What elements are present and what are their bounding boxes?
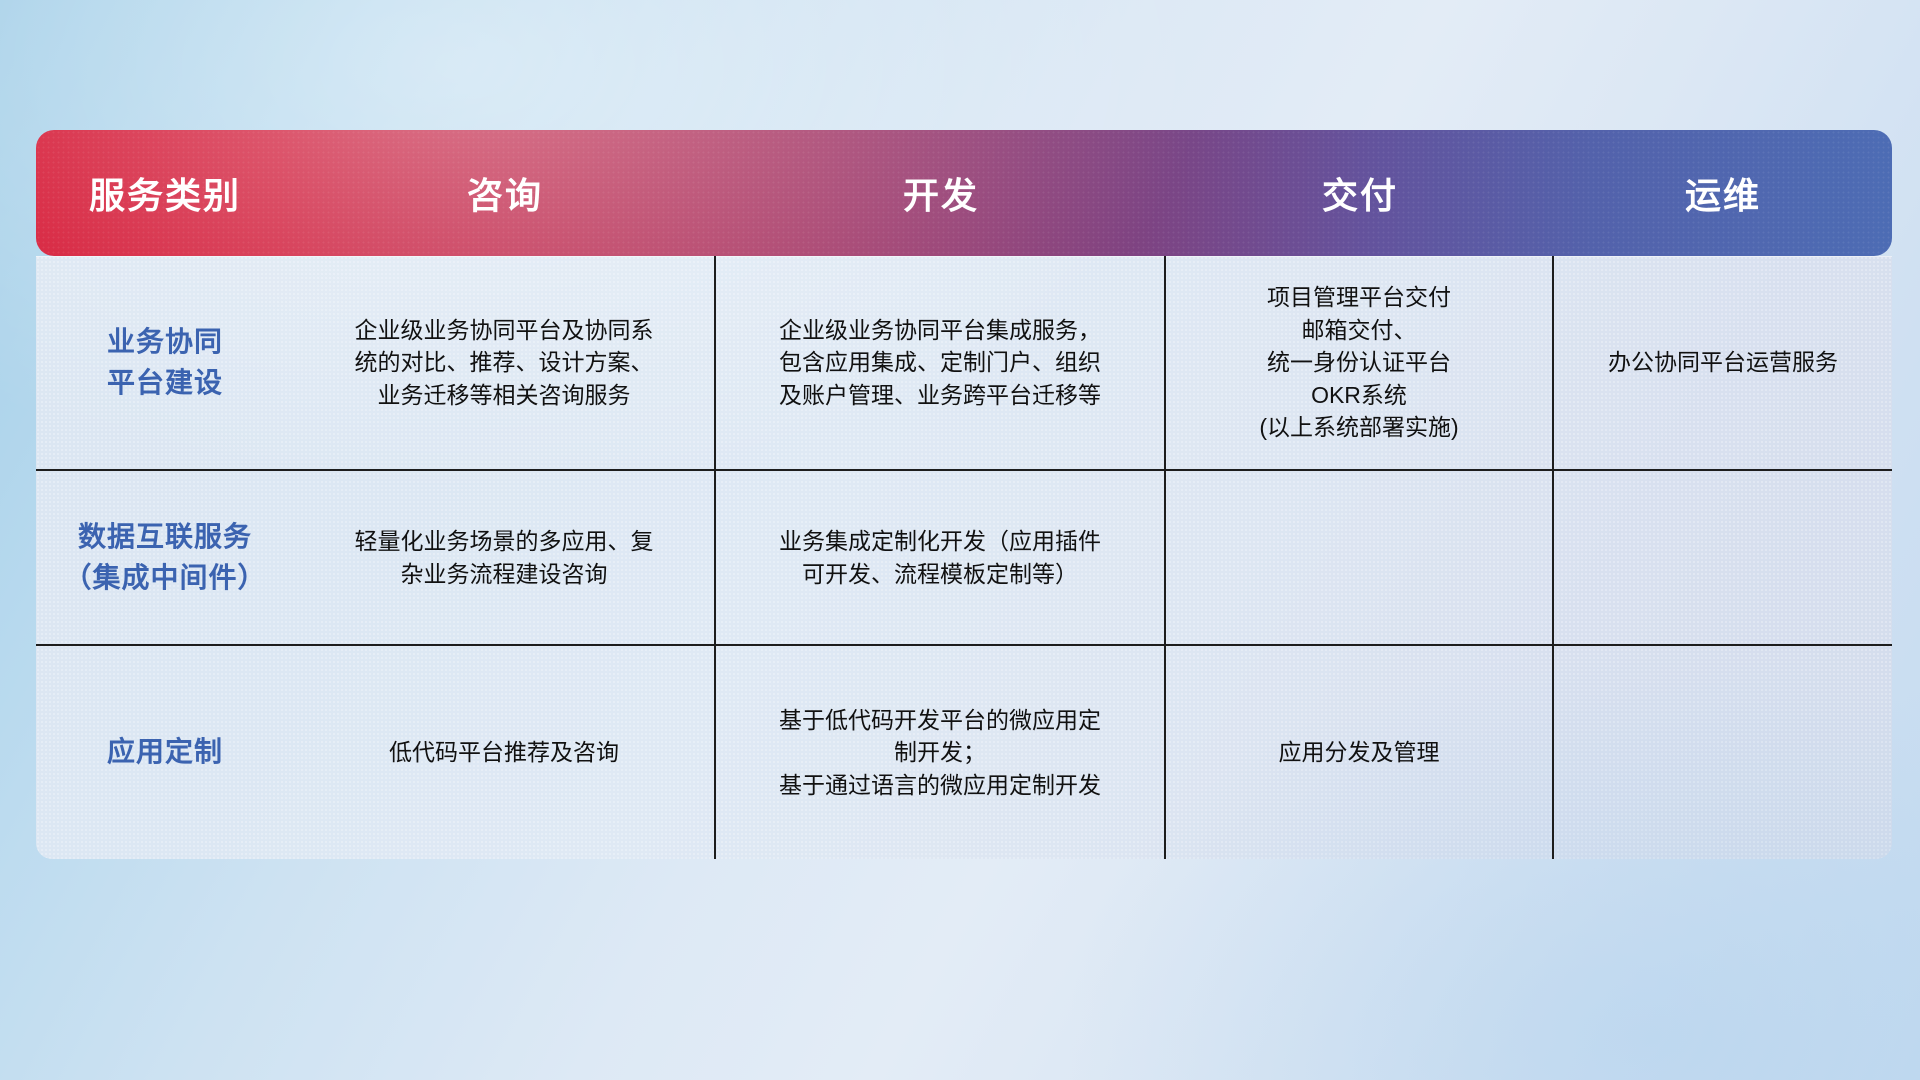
table-header-cell-development: 开发 [716,130,1166,256]
cell-operations [1554,471,1892,644]
cell-operations [1554,646,1892,859]
row-category-label: 业务协同 平台建设 [36,256,294,469]
cell-consulting: 低代码平台推荐及咨询 [294,646,716,859]
row-category-label: 应用定制 [36,646,294,859]
table-row: 业务协同 平台建设 企业级业务协同平台及协同系 统的对比、推荐、设计方案、 业务… [36,256,1892,471]
table-body: 业务协同 平台建设 企业级业务协同平台及协同系 统的对比、推荐、设计方案、 业务… [36,256,1892,859]
cell-development: 业务集成定制化开发（应用插件 可开发、流程模板定制等） [716,471,1166,644]
service-matrix-table: 服务类别 咨询 开发 交付 运维 业务协同 平台建设 企业级业务协同平台及协同系… [36,130,1892,859]
cell-consulting: 企业级业务协同平台及协同系 统的对比、推荐、设计方案、 业务迁移等相关咨询服务 [294,256,716,469]
cell-consulting: 轻量化业务场景的多应用、复 杂业务流程建设咨询 [294,471,716,644]
table-row: 应用定制 低代码平台推荐及咨询 基于低代码开发平台的微应用定 制开发； 基于通过… [36,646,1892,859]
cell-operations: 办公协同平台运营服务 [1554,256,1892,469]
table-header-cell-delivery: 交付 [1166,130,1554,256]
cell-delivery: 项目管理平台交付 邮箱交付、 统一身份认证平台 OKR系统 (以上系统部署实施) [1166,256,1554,469]
table-header-cell-consulting: 咨询 [294,130,716,256]
table-row: 数据互联服务 （集成中间件） 轻量化业务场景的多应用、复 杂业务流程建设咨询 业… [36,471,1892,646]
page-root: 服务类别 咨询 开发 交付 运维 业务协同 平台建设 企业级业务协同平台及协同系… [0,0,1920,1080]
table-header-cell-service-category: 服务类别 [36,130,294,256]
cell-delivery: 应用分发及管理 [1166,646,1554,859]
cell-development: 企业级业务协同平台集成服务， 包含应用集成、定制门户、组织 及账户管理、业务跨平… [716,256,1166,469]
table-header-cell-operations: 运维 [1554,130,1892,256]
cell-development: 基于低代码开发平台的微应用定 制开发； 基于通过语言的微应用定制开发 [716,646,1166,859]
row-category-label: 数据互联服务 （集成中间件） [36,471,294,644]
cell-delivery [1166,471,1554,644]
table-header-row: 服务类别 咨询 开发 交付 运维 [36,130,1892,256]
